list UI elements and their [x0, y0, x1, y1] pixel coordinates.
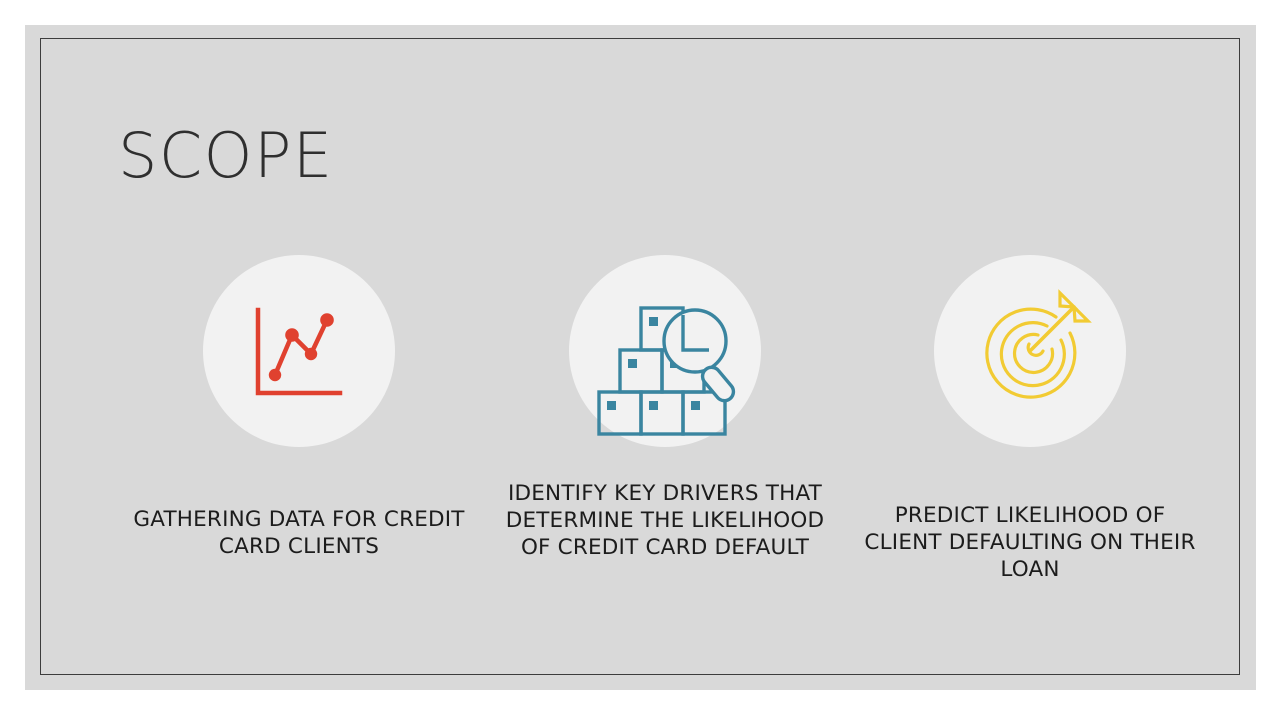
page-title: SCOPE: [118, 121, 334, 191]
icon-circle-3: [934, 255, 1126, 447]
scope-item-3-caption: PREDICT LIKELIHOOD OF CLIENT DEFAULTING …: [855, 502, 1205, 583]
scope-item-2-caption: IDENTIFY KEY DRIVERS THAT DETERMINE THE …: [490, 480, 840, 561]
line-chart-icon: [203, 255, 395, 447]
scope-item-3: PREDICT LIKELIHOOD OF CLIENT DEFAULTING …: [855, 255, 1205, 583]
scope-item-2: IDENTIFY KEY DRIVERS THAT DETERMINE THE …: [490, 255, 840, 561]
target-arrow-icon: [934, 255, 1126, 447]
icon-circle-2: [569, 255, 761, 447]
boxes-magnifier-icon: [569, 255, 761, 447]
icon-circle-1: [203, 255, 395, 447]
slide-canvas: SCOPE GATHERING DATA FOR CREDIT CARD CLI…: [25, 25, 1256, 690]
scope-item-1: GATHERING DATA FOR CREDIT CARD CLIENTS: [113, 255, 485, 560]
scope-item-1-caption: GATHERING DATA FOR CREDIT CARD CLIENTS: [113, 506, 485, 560]
